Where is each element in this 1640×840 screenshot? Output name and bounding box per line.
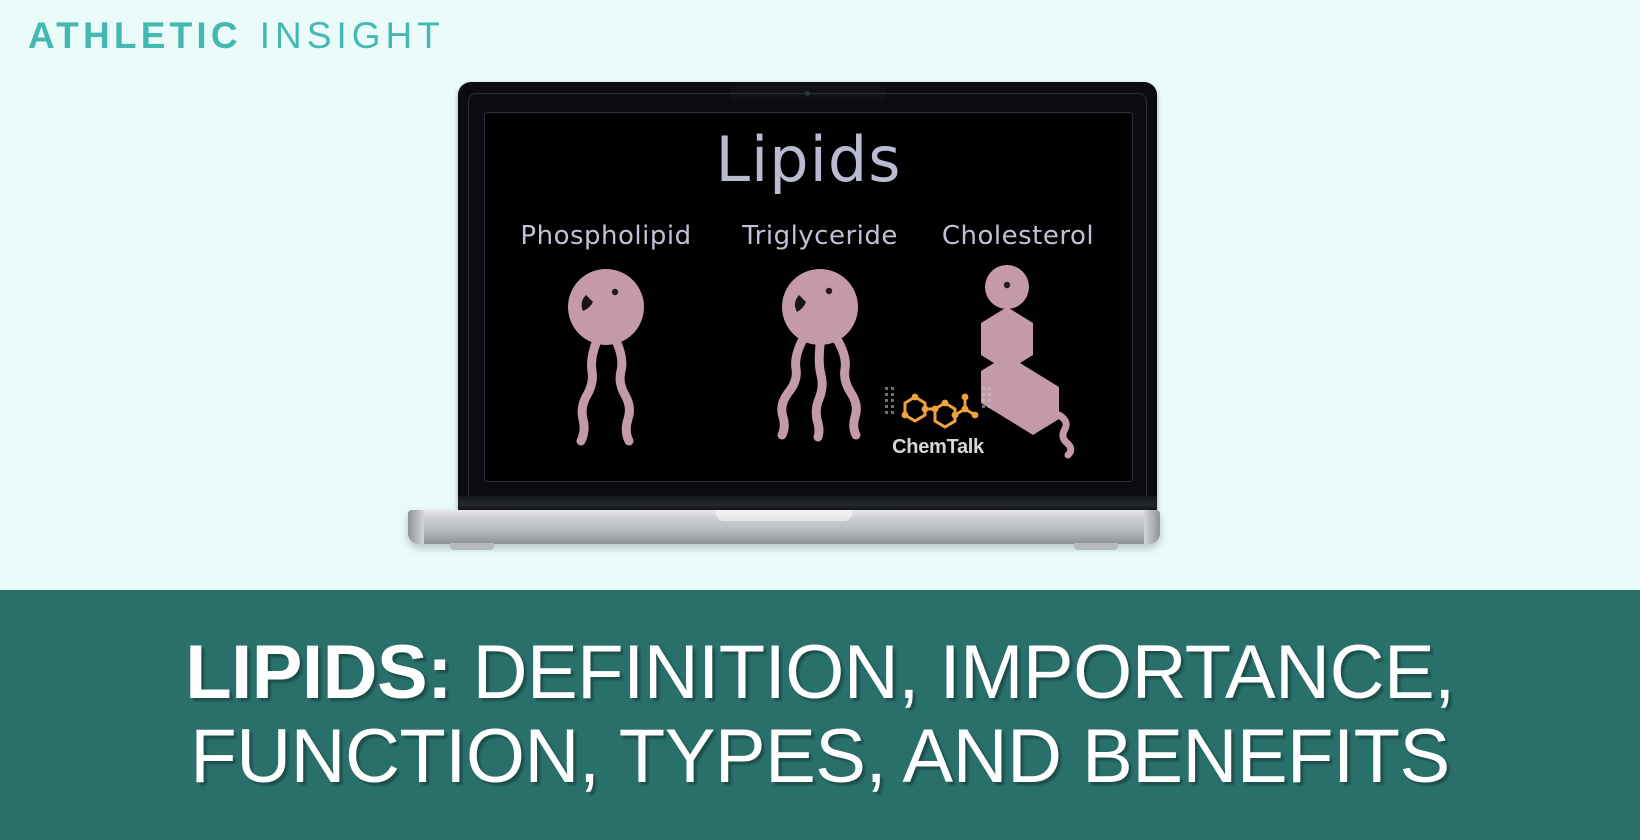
lipid-label-triglyceride: Triglyceride [707, 221, 933, 251]
phospholipid-svg [493, 259, 719, 459]
lipid-label-phospholipid: Phospholipid [493, 221, 719, 251]
laptop-base-right-edge [1144, 510, 1160, 544]
laptop-lid: Lipids Phospholipid [458, 82, 1157, 510]
page-title-lead: LIPIDS: [185, 630, 452, 715]
laptop-base [408, 510, 1160, 544]
footer-banner: LIPIDS: DEFINITION, IMPORTANCE, FUNCTION… [0, 590, 1640, 840]
lipid-column-phospholipid: Phospholipid [493, 221, 719, 469]
page-root: ATHLETIC INSIGHT Lipids Phospholipid [0, 0, 1640, 840]
chemtalk-watermark: ChemTalk [883, 381, 993, 459]
laptop-base-left-edge [408, 510, 424, 544]
page-title: LIPIDS: DEFINITION, IMPORTANCE, FUNCTION… [60, 631, 1580, 799]
chemtalk-label: ChemTalk [883, 436, 993, 459]
laptop-foot-right [1074, 543, 1118, 550]
slide-title: Lipids [485, 129, 1132, 191]
slide-canvas: Lipids Phospholipid [485, 113, 1132, 481]
laptop-foot-left [450, 543, 494, 550]
camera-dot-icon [805, 91, 810, 96]
brand-word-athletic: ATHLETIC [28, 17, 242, 54]
laptop-illustration: Lipids Phospholipid [408, 82, 1160, 562]
brand-word-insight: INSIGHT [260, 17, 445, 54]
laptop-base-notch [716, 510, 852, 521]
molecule-icon [883, 381, 993, 437]
laptop-screen: Lipids Phospholipid [484, 112, 1133, 482]
phospholipid-diagram [493, 259, 719, 469]
lipid-label-cholesterol: Cholesterol [909, 221, 1127, 251]
brand-logo[interactable]: ATHLETIC INSIGHT [28, 17, 445, 54]
